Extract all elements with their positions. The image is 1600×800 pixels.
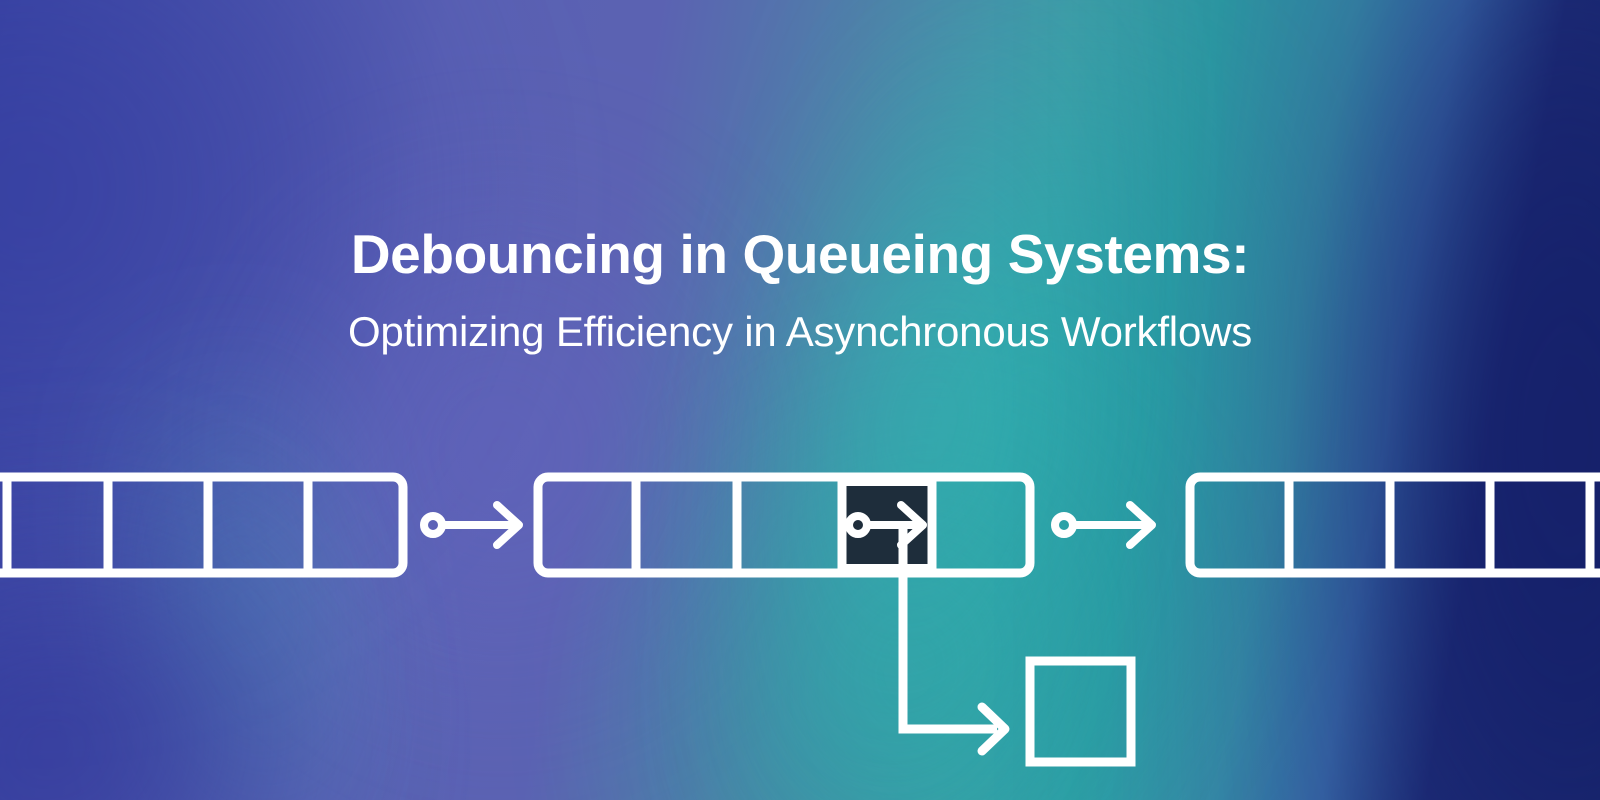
queue-middle — [538, 477, 1030, 573]
queue-middle-outline — [538, 477, 1030, 573]
connector-3-circle-tail — [1055, 516, 1073, 534]
queue-left-outline — [0, 477, 403, 573]
connector-1-circle-tail — [424, 516, 442, 534]
queue-right — [1190, 477, 1600, 573]
queue-right-outline — [1190, 477, 1600, 573]
queue-left — [0, 477, 403, 573]
connector-3-circle-tail-arrow — [1055, 505, 1152, 545]
connector-1-circle-tail-arrow — [424, 505, 519, 545]
debounce-box — [1030, 661, 1131, 762]
hero-banner: Debouncing in Queueing Systems: Optimizi… — [0, 0, 1600, 800]
queue-diagram — [0, 0, 1600, 800]
